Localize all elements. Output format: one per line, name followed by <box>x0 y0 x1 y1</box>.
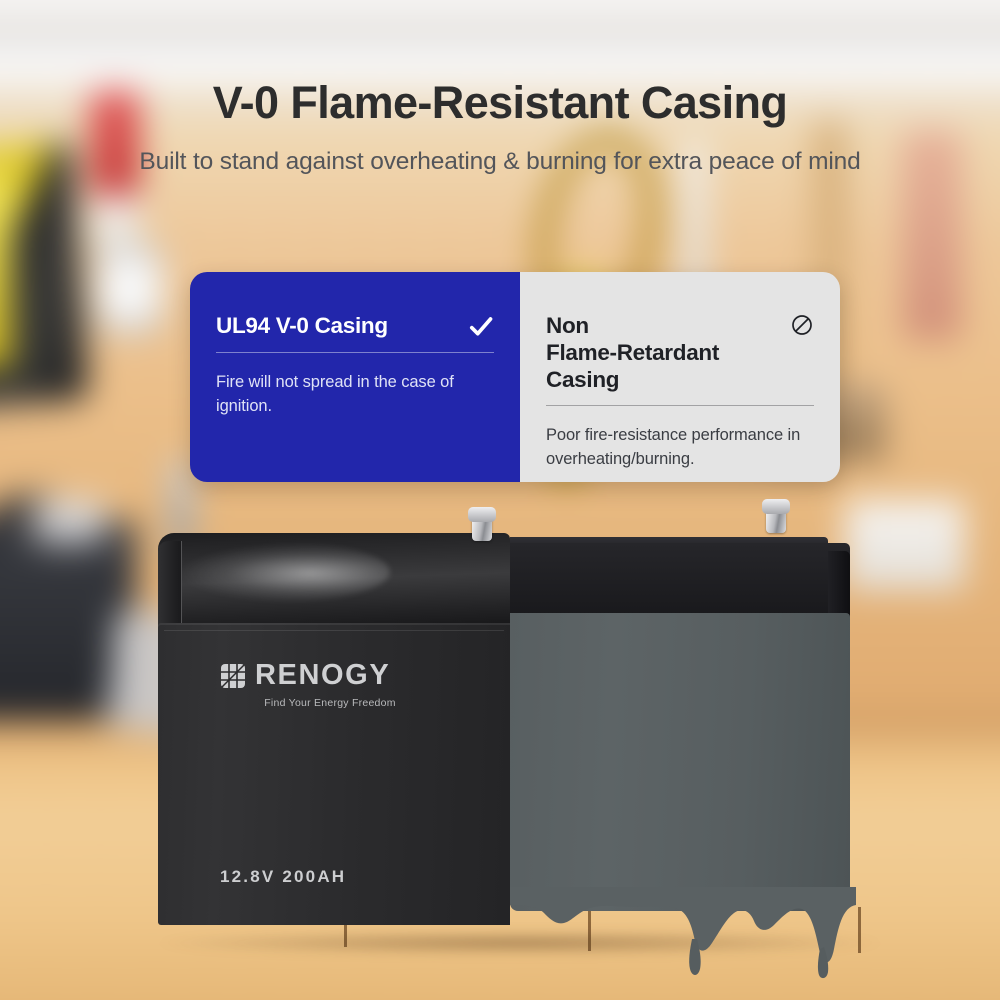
battery-spec-label: 12.8V 200AH <box>220 867 346 887</box>
prohibition-icon <box>790 312 814 337</box>
good-pane-divider <box>216 352 494 353</box>
battery-terminal-right <box>762 499 790 533</box>
melted-lid <box>510 543 850 621</box>
melted-drips-icon <box>506 887 856 979</box>
yellow-tool-body-icon <box>0 178 12 368</box>
good-pane-header: UL94 V-0 Casing <box>216 312 494 340</box>
check-icon <box>468 312 494 340</box>
solar-panel-logo-icon <box>220 663 246 689</box>
bad-pane-header: Non Flame-Retardant Casing <box>546 312 814 393</box>
casing-lip <box>158 541 182 633</box>
page-title: V-0 Flame-Resistant Casing <box>0 78 1000 128</box>
brand-logo: RENOGY Find Your Energy Freedom <box>220 661 440 709</box>
brand-name: RENOGY <box>255 661 390 690</box>
comparison-card: UL94 V-0 Casing Fire will not spread in … <box>190 272 840 482</box>
chrome-fitting-icon <box>35 500 105 546</box>
bad-pane-divider <box>546 405 814 406</box>
battery-melted-half <box>510 515 868 935</box>
page-subtitle: Built to stand against overheating & bur… <box>0 148 1000 176</box>
battery-product-image: RENOGY Find Your Energy Freedom 12.8V 20… <box>158 515 868 940</box>
brand-tagline: Find Your Energy Freedom <box>220 697 440 709</box>
bad-pane-body: Poor fire-resistance performance in over… <box>546 423 814 472</box>
casing-lid <box>158 533 510 629</box>
battery-terminal-left <box>468 507 496 541</box>
good-pane-body: Fire will not spread in the case of igni… <box>216 370 494 419</box>
battery-intact-half: RENOGY Find Your Energy Freedom 12.8V 20… <box>158 533 510 925</box>
good-pane-title: UL94 V-0 Casing <box>216 312 388 339</box>
wrench-icon <box>95 240 165 360</box>
product-feature-image: V-0 Flame-Resistant Casing Built to stan… <box>0 0 1000 1000</box>
bad-pane-title: Non Flame-Retardant Casing <box>546 312 780 393</box>
top-shelf <box>0 0 1000 34</box>
melted-casing-body <box>510 613 850 911</box>
comparison-pane-good: UL94 V-0 Casing Fire will not spread in … <box>190 272 520 482</box>
casing-seam <box>164 630 504 631</box>
bad-pane-title-line1: Non <box>546 312 780 339</box>
headline-block: V-0 Flame-Resistant Casing Built to stan… <box>0 78 1000 176</box>
comparison-pane-bad: Non Flame-Retardant Casing Poor fire-res… <box>520 272 840 482</box>
bad-pane-title-line2: Flame-Retardant Casing <box>546 339 780 393</box>
